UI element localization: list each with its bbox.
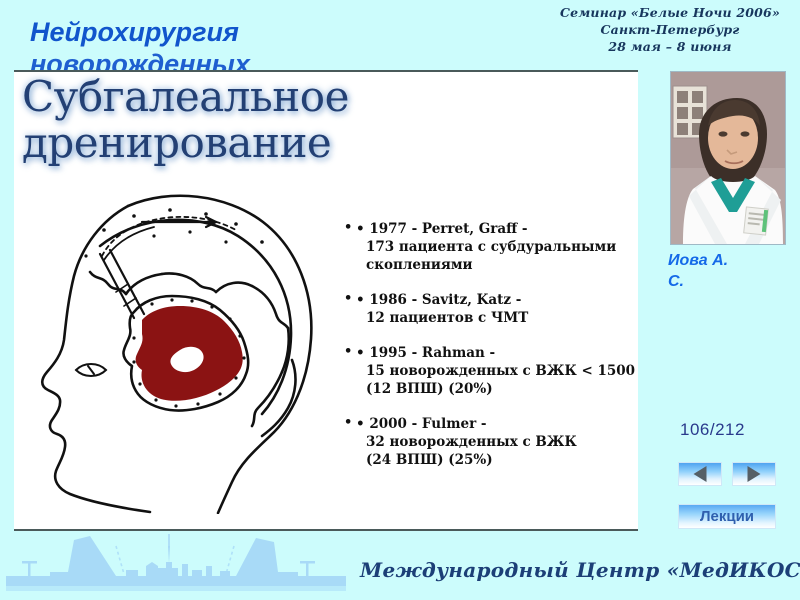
reference-item: • 1977 - Perret, Graff - 173 пациента с … [344,220,638,274]
reference-item: • 1986 - Savitz, Katz - 12 пациентов с Ч… [344,291,638,327]
arrow-right-icon [748,466,761,482]
lecture-series-title-line1: Нейрохирургия [30,16,450,48]
reference-sub1: 173 пациента с субдуральными [344,238,638,256]
reference-item: • 2000 - Fulmer - 32 новорожденных с ВЖК… [344,415,638,469]
reference-head: • 1977 - Perret, Graff - [344,220,638,238]
speaker-portrait [670,71,786,245]
reference-sub1: 15 новорожденных с ВЖК < 1500 гр. [344,362,638,380]
slide-title-line1: Субгалеальное [22,74,349,120]
speaker-name: Иова А. С. [668,250,796,292]
reference-sub1: 12 пациентов с ЧМТ [344,309,638,327]
slide-content-panel: Субгалеальное дренирование [14,70,638,531]
reference-sub2: скоплениями [344,256,638,274]
bridge-silhouette-icon [6,532,346,594]
slide-title-line2: дренирование [22,120,349,166]
page-counter: 106/212 [680,420,745,440]
next-slide-button[interactable] [732,462,776,486]
presentation-slide: Семинар «Белые Ночи 2006» Санкт-Петербур… [0,0,800,600]
reference-head: • 1986 - Savitz, Katz - [344,291,638,309]
previous-slide-button[interactable] [678,462,722,486]
right-rail: Иова А. С. 106/212 Лекции [650,0,800,600]
speaker-name-line1: Иова А. [668,250,796,271]
reference-head: • 2000 - Fulmer - [344,415,638,433]
arrow-left-icon [694,466,707,482]
head-anatomy-illustration [30,164,340,514]
slide-navigation [678,462,778,488]
reference-list: • 1977 - Perret, Graff - 173 пациента с … [344,220,638,486]
speaker-name-line2: С. [668,271,796,292]
reference-sub2: (24 ВПШ) (25%) [344,451,638,469]
reference-item: • 1995 - Rahman - 15 новорожденных с ВЖК… [344,344,638,398]
reference-head: • 1995 - Rahman - [344,344,638,362]
reference-sub2: (12 ВПШ) (20%) [344,380,638,398]
lectures-button[interactable]: Лекции [678,504,776,529]
reference-sub1: 32 новорожденных с ВЖК [344,433,638,451]
slide-title: Субгалеальное дренирование [22,74,349,166]
